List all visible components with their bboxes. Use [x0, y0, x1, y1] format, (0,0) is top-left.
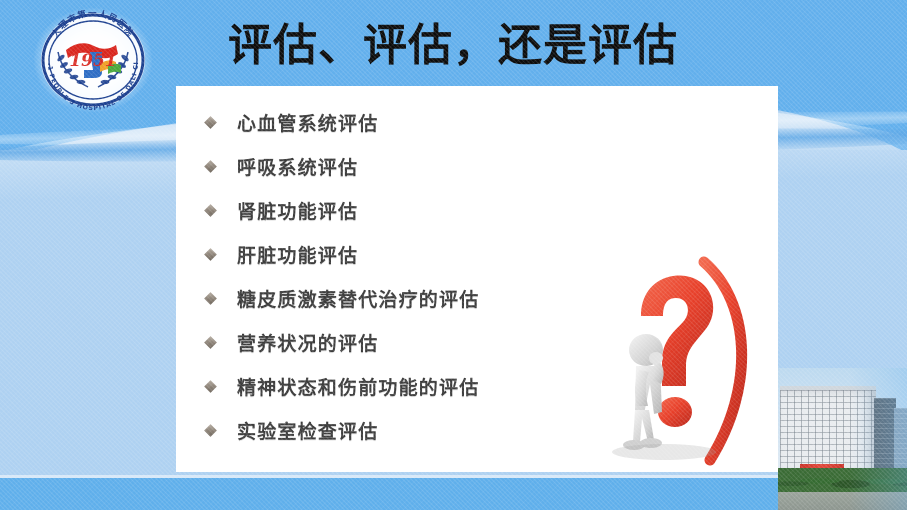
diamond-bullet-icon: [204, 204, 217, 217]
bottom-blue-band: [0, 478, 907, 510]
list-item[interactable]: 呼吸系统评估: [206, 144, 768, 188]
list-item[interactable]: 心血管系统评估: [206, 100, 768, 144]
question-mark-icon: [604, 254, 778, 470]
hospital-building-photo: [778, 368, 907, 510]
photo-treeline: [778, 468, 907, 494]
list-item-label: 实验室检查评估: [237, 417, 378, 444]
photo-side-tower: [874, 398, 896, 474]
list-item-label: 精神状态和伤前功能的评估: [237, 373, 479, 400]
slide-canvas: 大理市第一人民医院 NO.1 PEOPLE'S HOSPITAL OF DALI…: [0, 0, 907, 510]
hospital-logo: 大理市第一人民医院 NO.1 PEOPLE'S HOSPITAL OF DALI…: [32, 8, 154, 112]
diamond-bullet-icon: [204, 336, 217, 349]
list-item-label: 呼吸系统评估: [237, 153, 358, 180]
list-item-label: 糖皮质激素替代治疗的评估: [237, 285, 479, 312]
diamond-bullet-icon: [204, 292, 217, 305]
list-item-label: 营养状况的评估: [237, 329, 378, 356]
logo-emblem-icon: 大理市第一人民医院 NO.1 PEOPLE'S HOSPITAL OF DALI…: [32, 8, 154, 112]
diamond-bullet-icon: [204, 248, 217, 261]
bottom-band-edge: [0, 475, 907, 478]
diamond-bullet-icon: [204, 424, 217, 437]
diamond-bullet-icon: [204, 116, 217, 129]
photo-far-tower: [894, 408, 907, 474]
list-item-label: 心血管系统评估: [237, 109, 378, 136]
list-item-label: 肝脏功能评估: [237, 241, 358, 268]
page-title: 评估、评估，还是评估: [228, 16, 678, 76]
svg-text:1951: 1951: [69, 51, 116, 71]
question-mark-graphic: [604, 254, 778, 470]
photo-ground: [778, 492, 907, 510]
list-item[interactable]: 肾脏功能评估: [206, 188, 768, 232]
list-item-label: 肾脏功能评估: [237, 197, 358, 224]
photo-main-building: [780, 390, 876, 474]
diamond-bullet-icon: [204, 380, 217, 393]
diamond-bullet-icon: [204, 160, 217, 173]
